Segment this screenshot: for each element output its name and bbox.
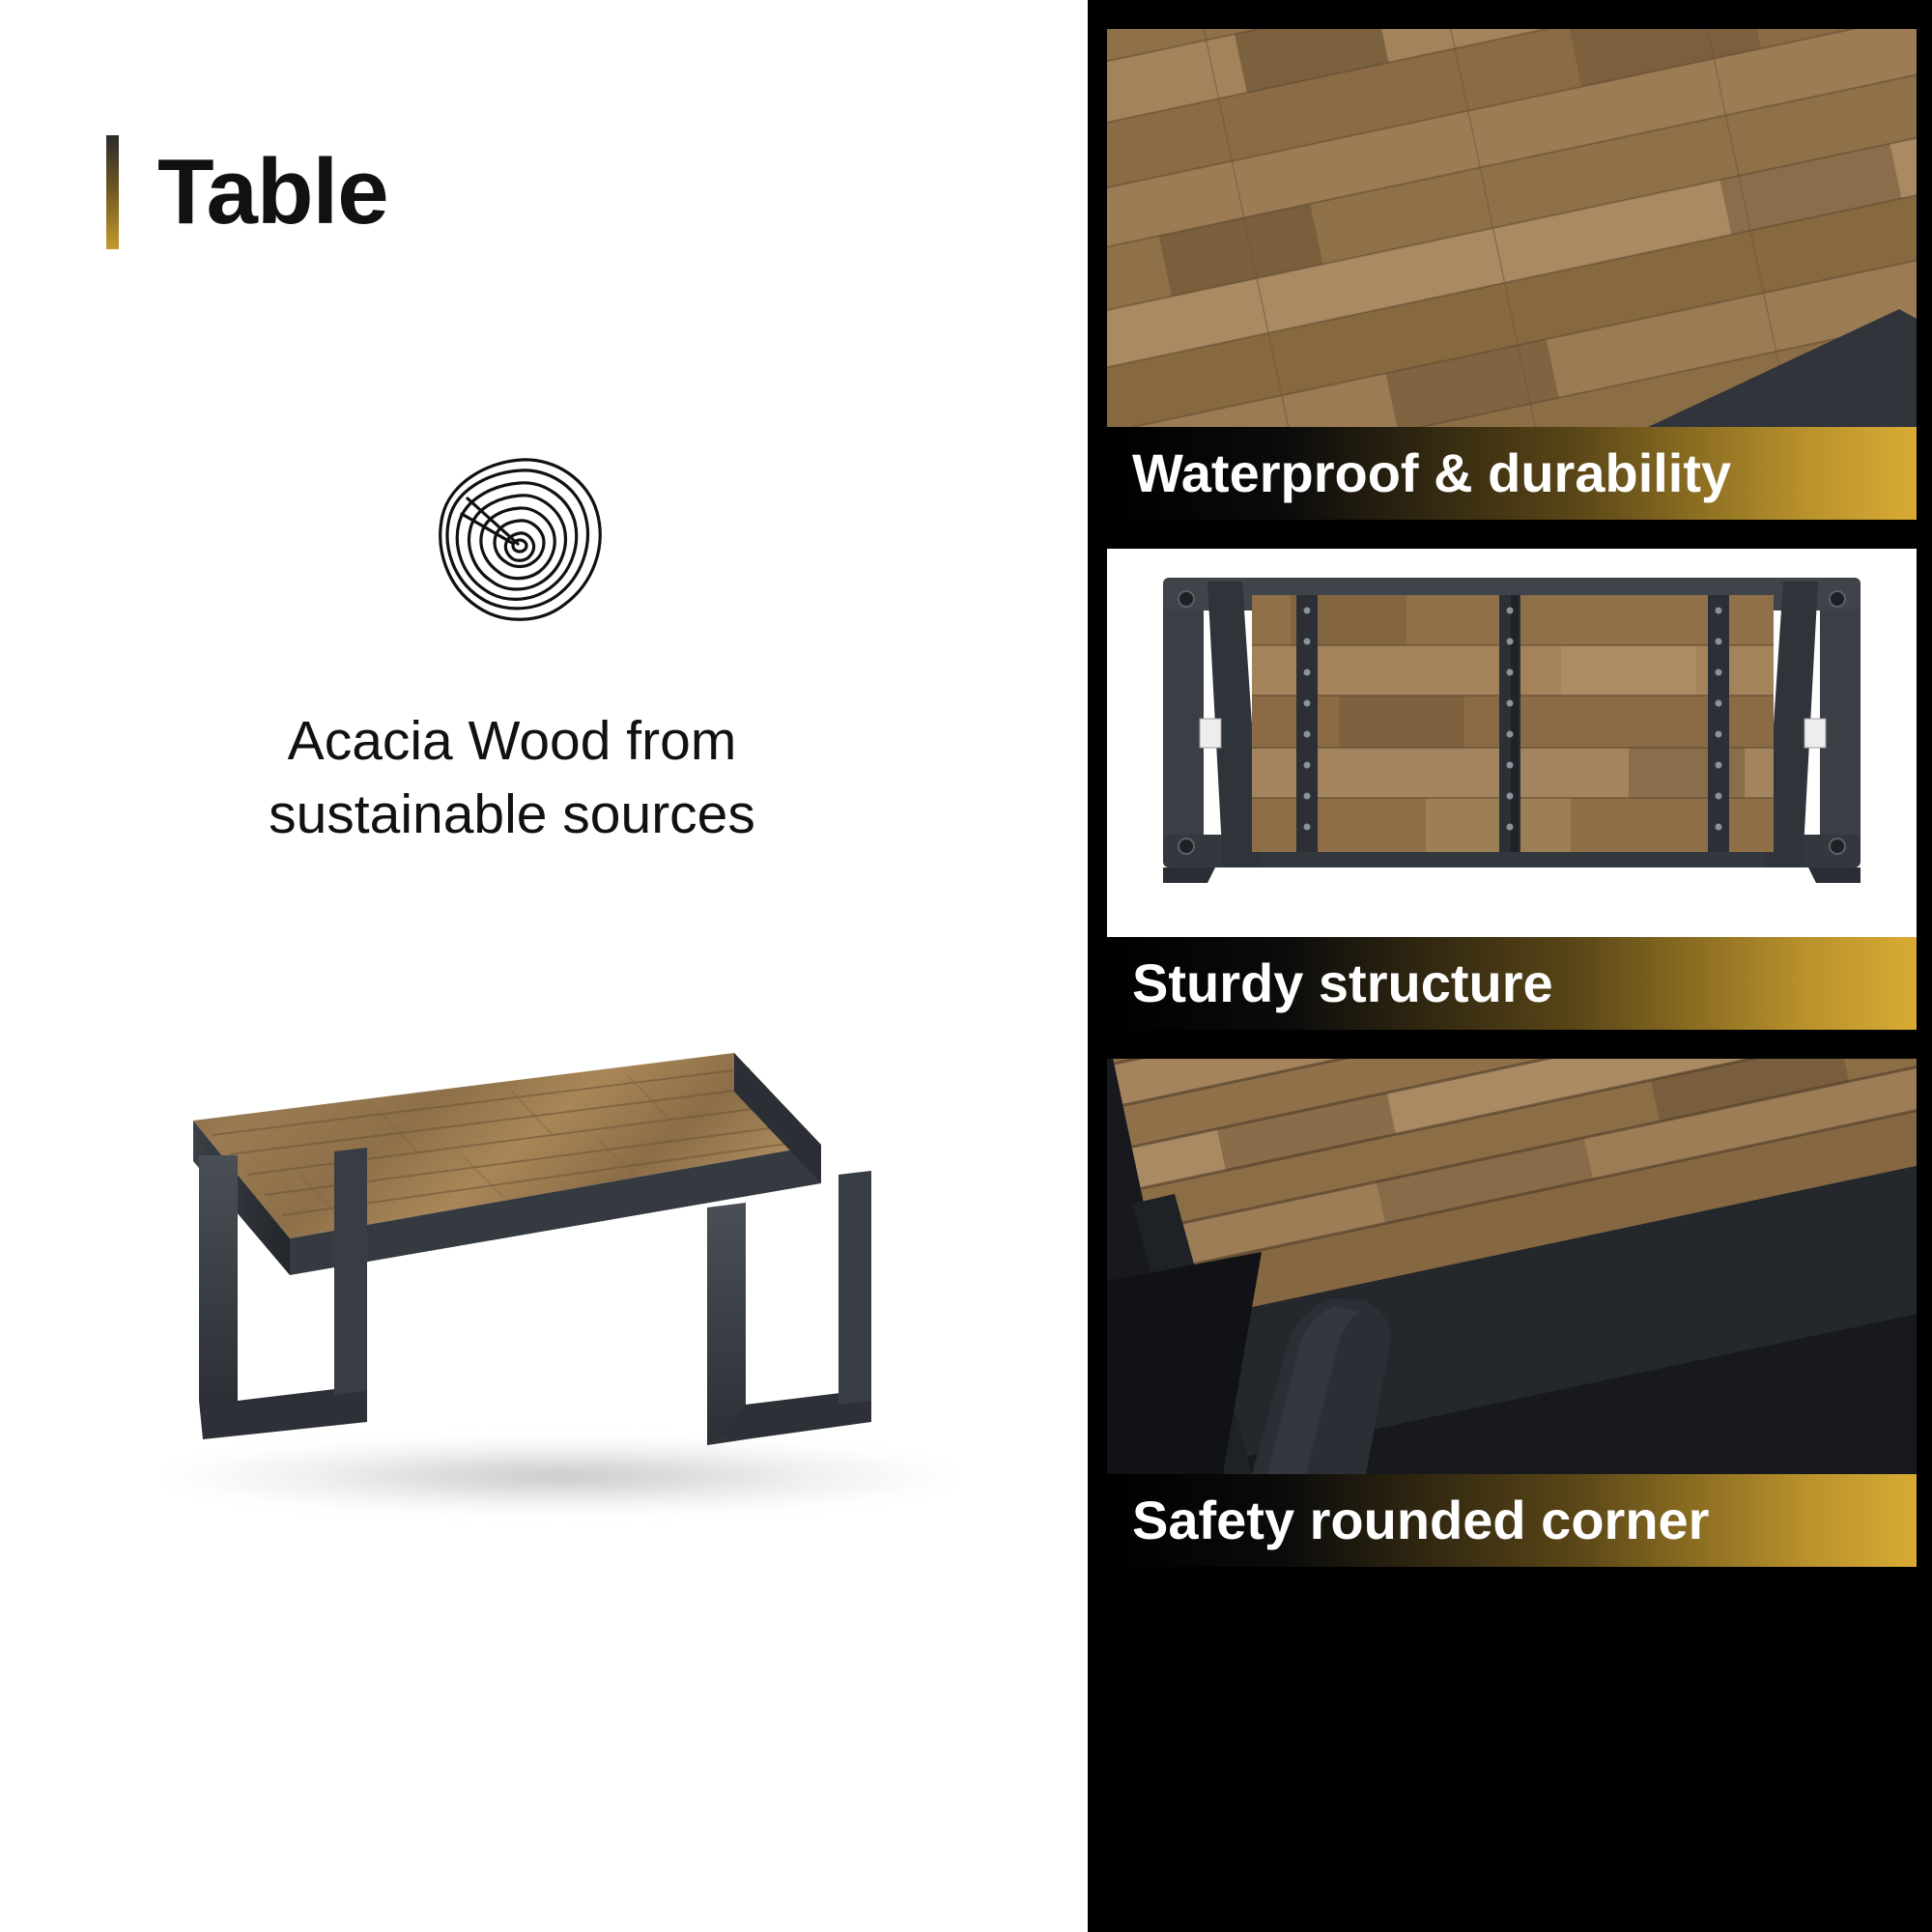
feature-card-corner: Safety rounded corner [1107, 1059, 1917, 1567]
feature-caption: Acacia Wood from sustainable sources [174, 705, 850, 852]
card-label-structure: Sturdy structure [1107, 937, 1917, 1030]
left-panel: Table Acacia Wood from [0, 0, 1088, 1932]
product-shadow [164, 1437, 956, 1515]
tree-ring-icon [433, 454, 607, 628]
title-accent-bar [106, 135, 119, 249]
page-title: Table [157, 146, 388, 239]
card-label-text: Sturdy structure [1107, 956, 1553, 1010]
right-panel: Waterproof & durability [1088, 0, 1932, 1932]
table-underside-frame [1107, 549, 1917, 937]
card-label-text: Safety rounded corner [1107, 1493, 1709, 1548]
card-label-waterproof: Waterproof & durability [1107, 427, 1917, 520]
feature-card-structure: Sturdy structure [1107, 549, 1917, 1030]
product-feature-sheet: Table Acacia Wood from [0, 0, 1932, 1932]
feature-card-waterproof: Waterproof & durability [1107, 29, 1917, 520]
wood-plank-surface-closeup [1107, 29, 1917, 427]
table-corner-closeup [1107, 1059, 1917, 1474]
feature-caption-line2: sustainable sources [174, 779, 850, 852]
card-label-corner: Safety rounded corner [1107, 1474, 1917, 1567]
feature-caption-line1: Acacia Wood from [174, 705, 850, 779]
card-label-text: Waterproof & durability [1107, 446, 1731, 500]
product-image [58, 985, 1043, 1584]
page-title-row: Table [106, 135, 388, 249]
